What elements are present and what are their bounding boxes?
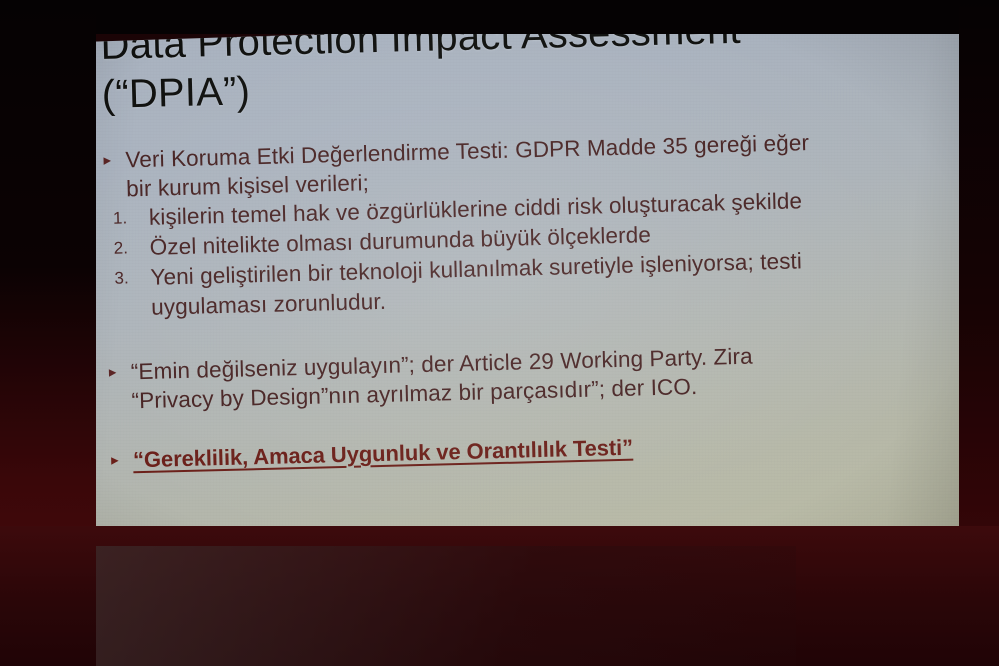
numbered-item-1-marker: 1. [105,203,150,234]
numbered-item-3-marker: 3. [106,263,151,294]
numbered-item-2-marker: 2. [105,233,150,264]
surround-bottom-shadow [96,546,796,666]
triangle-bullet-icon: ▸ [111,445,134,475]
triangle-bullet-icon: ▸ [109,357,132,387]
surround-top-edge [0,0,999,34]
triangle-bullet-icon: ▸ [103,145,126,175]
auditorium-background: Data Protection Impact Assessment (“DPIA… [0,0,999,666]
slide-body: ▸ Veri Koruma Etki Değerlendirme Testi: … [103,124,961,474]
